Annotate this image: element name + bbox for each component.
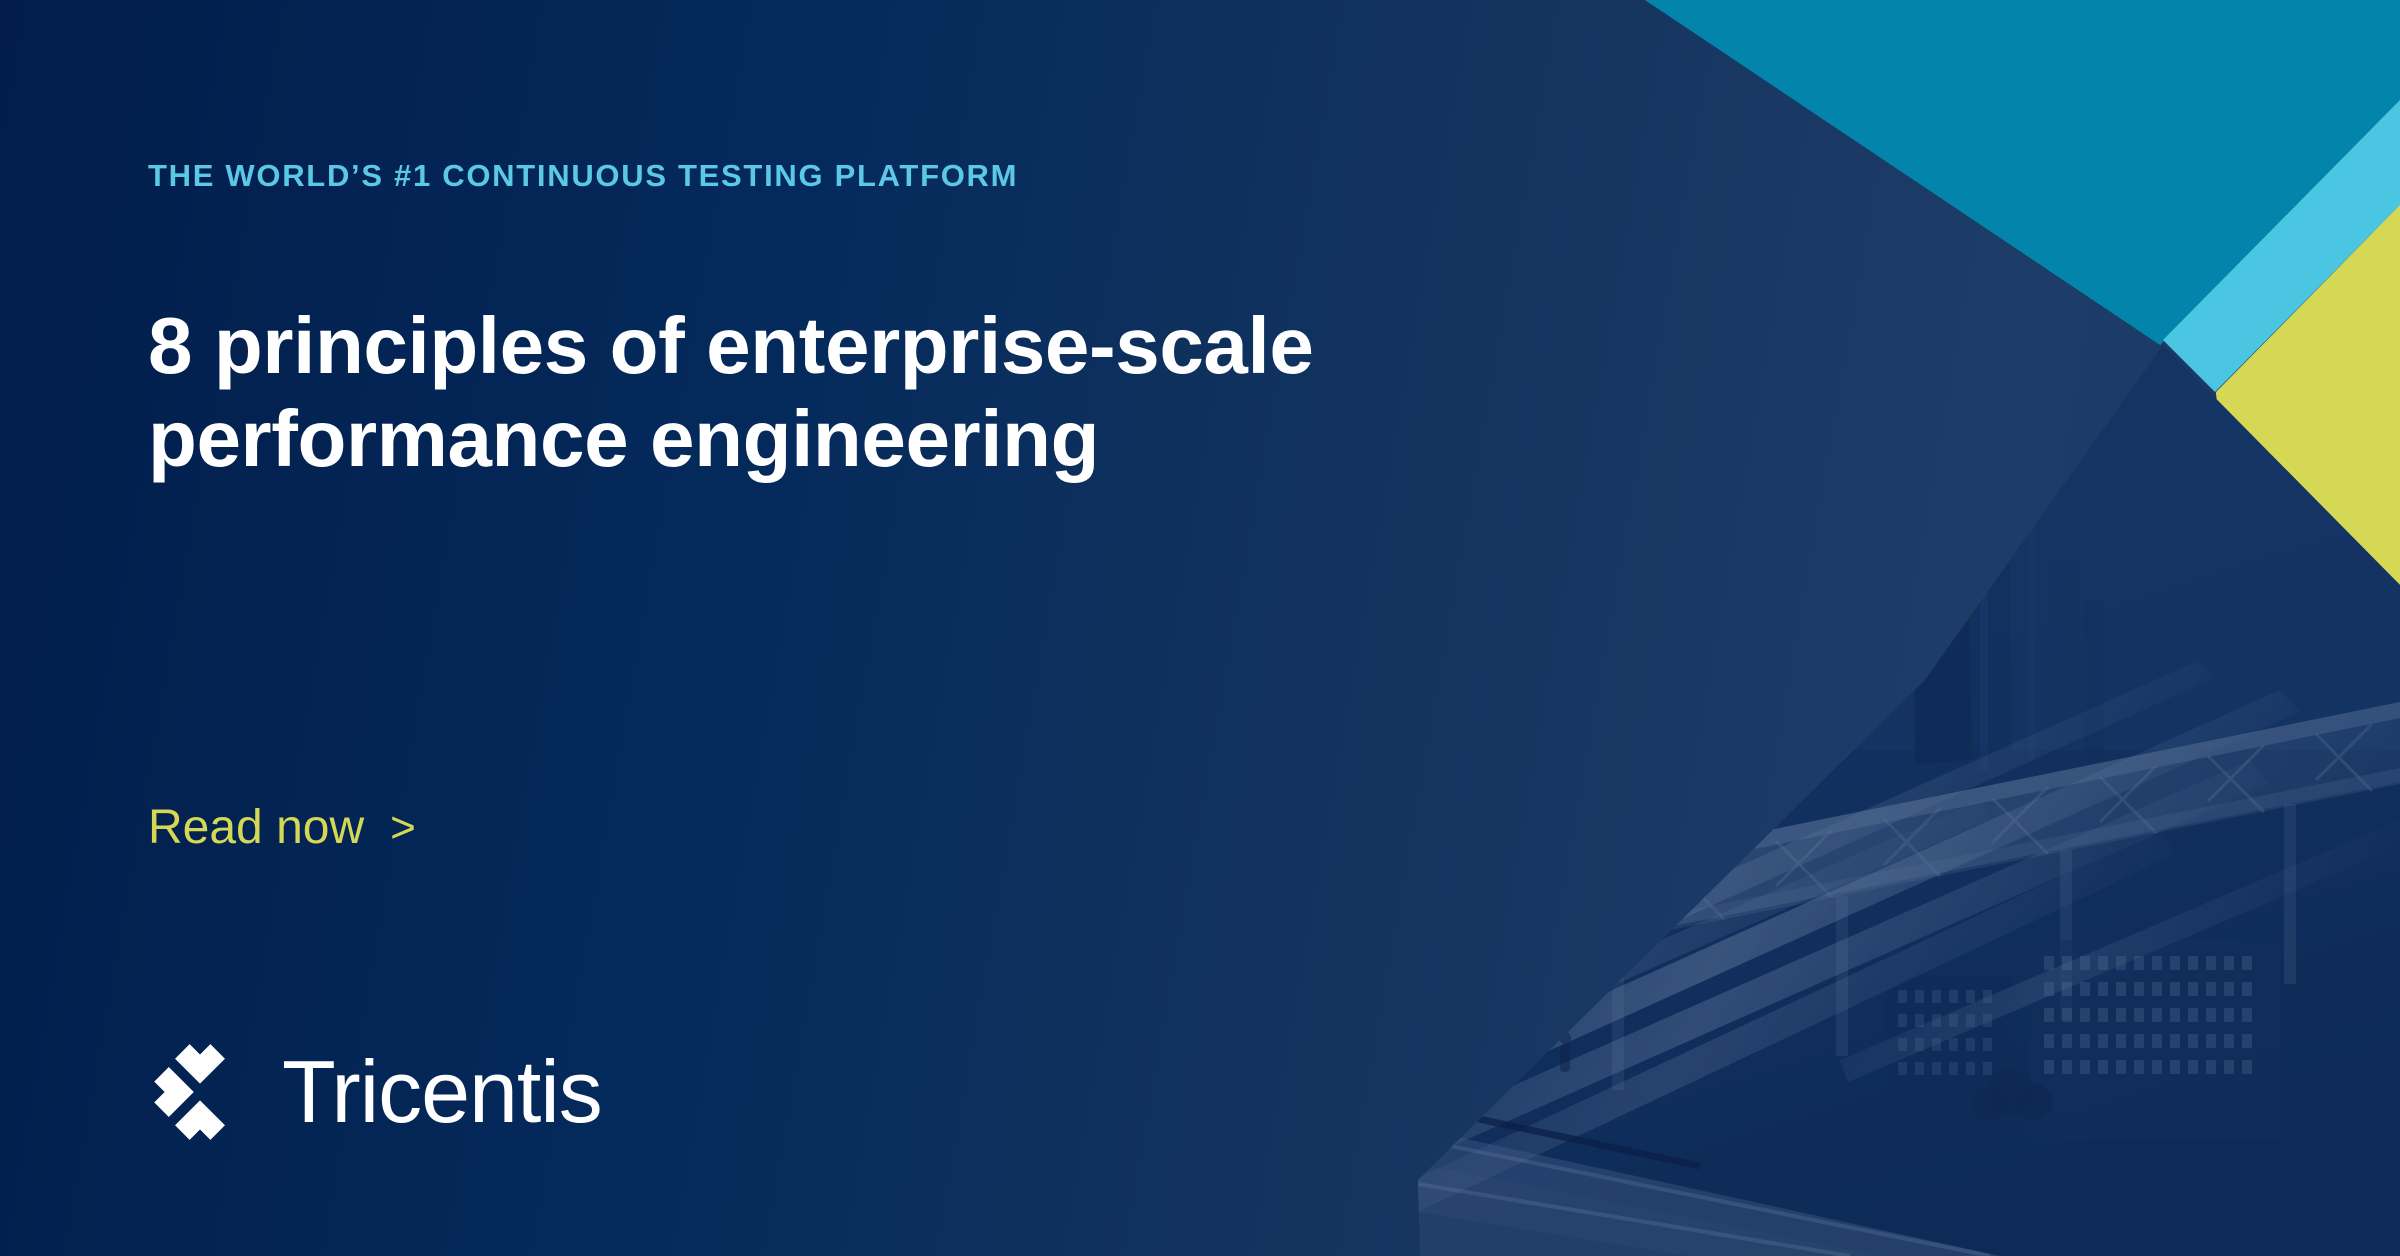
yellow-green-triangle	[2216, 205, 2400, 748]
read-now-link[interactable]: Read now >	[148, 800, 416, 855]
tricentis-x-mark	[148, 1040, 252, 1144]
cyan-bottom-triangle	[1925, 1098, 2400, 1256]
read-now-label: Read now	[148, 800, 364, 855]
page-title: 8 principles of enterprise-scale perform…	[148, 300, 1468, 486]
promotional-banner: THE WORLD’S #1 CONTINUOUS TESTING PLATFO…	[0, 0, 2400, 1256]
tricentis-wordmark: Tricentis	[282, 1048, 602, 1136]
tricentis-logo[interactable]: Tricentis	[148, 1040, 602, 1144]
sky-blue-diagonal-stripe	[2163, 100, 2400, 392]
eyebrow-tagline: THE WORLD’S #1 CONTINUOUS TESTING PLATFO…	[148, 158, 1018, 194]
teal-triangle	[1645, 0, 2400, 345]
chevron-right-icon: >	[390, 806, 416, 850]
banner-content: THE WORLD’S #1 CONTINUOUS TESTING PLATFO…	[148, 0, 1548, 1256]
